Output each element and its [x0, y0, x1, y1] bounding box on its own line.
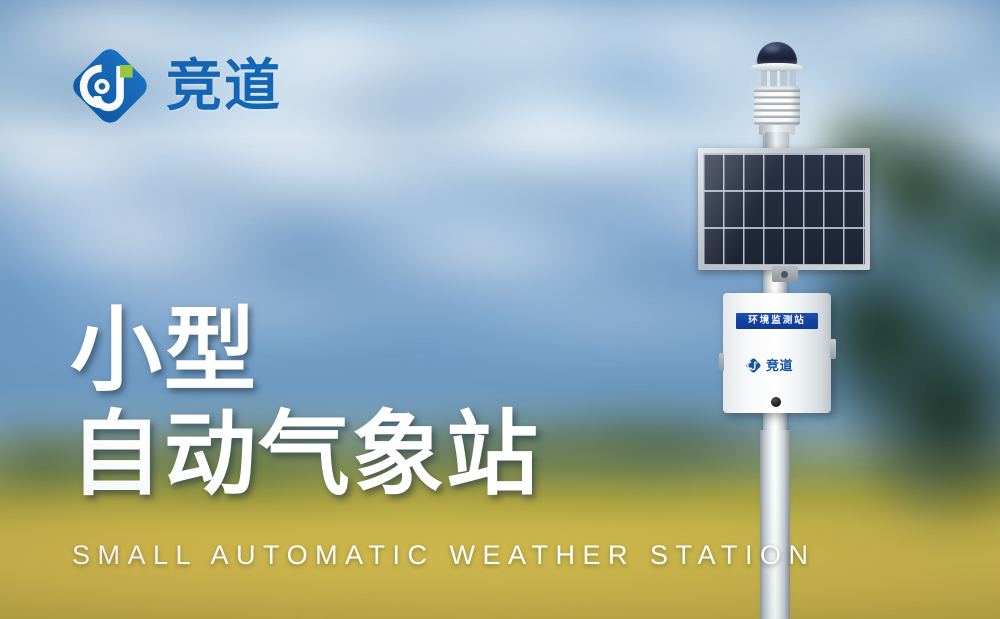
brand-name: 竞道 — [166, 58, 282, 114]
jingdao-diamond-logo-icon — [68, 44, 152, 128]
page-title: 小型 自动气象站 — [70, 300, 540, 508]
tree-foliage-right — [818, 70, 1000, 550]
page-subtitle: SMALL AUTOMATIC WEATHER STATION — [72, 540, 816, 571]
headline-line-2: 自动气象站 — [70, 404, 540, 508]
banner-image: 环境监测站 竞道 — [0, 0, 1000, 619]
brand-lockup: 竞道 — [68, 44, 282, 128]
headline-line-1: 小型 — [70, 300, 540, 404]
